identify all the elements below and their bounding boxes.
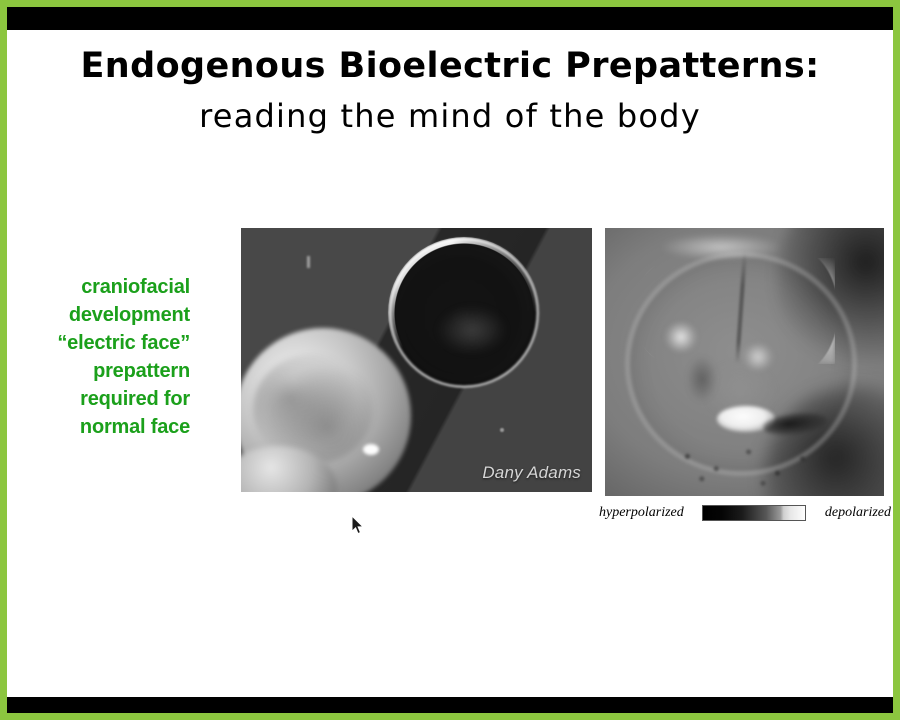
letterbox-bar-top — [7, 7, 893, 30]
caption-line-1: craniofacial — [7, 273, 190, 301]
caption-line-5: required for — [7, 385, 190, 413]
image-credit-watermark: Dany Adams — [482, 463, 581, 483]
voltage-dye-electric-face-micrograph — [605, 228, 884, 496]
slide-canvas: Endogenous Bioelectric Prepatterns: read… — [7, 7, 893, 713]
slide-frame: Endogenous Bioelectric Prepatterns: read… — [0, 0, 900, 720]
right-depolarized-arc — [791, 258, 835, 364]
colorbar-gradient-swatch — [702, 505, 806, 521]
dust-speck-icon — [307, 256, 310, 268]
right-eye-spot — [743, 344, 773, 370]
specular-highlight — [363, 444, 379, 455]
caption-line-6: normal face — [7, 413, 190, 441]
caption-block: craniofacial development “electric face”… — [7, 273, 190, 441]
brightfield-embryo-micrograph: Dany Adams — [241, 228, 592, 492]
forehead-highlight — [661, 234, 781, 260]
caption-line-4: prepattern — [7, 357, 190, 385]
letterbox-bar-bottom — [7, 697, 893, 713]
mouse-pointer-icon — [351, 515, 364, 535]
legend-label-hyperpolarized: hyperpolarized — [599, 506, 684, 520]
membrane-voltage-colorbar: hyperpolarized depolarized — [599, 503, 891, 523]
dust-speck-icon — [500, 428, 504, 432]
left-cheek-shadow — [687, 356, 717, 402]
page-title: Endogenous Bioelectric Prepatterns: — [7, 47, 893, 86]
dark-embryo-interior — [437, 306, 507, 354]
caption-line-2: development — [7, 301, 190, 329]
page-subtitle: reading the mind of the body — [7, 96, 893, 136]
caption-line-3: “electric face” — [7, 329, 190, 357]
left-eye-spot — [665, 322, 697, 352]
legend-label-depolarized: depolarized — [825, 506, 891, 520]
ventral-speckle-texture — [655, 434, 835, 490]
title-block: Endogenous Bioelectric Prepatterns: read… — [7, 47, 893, 136]
